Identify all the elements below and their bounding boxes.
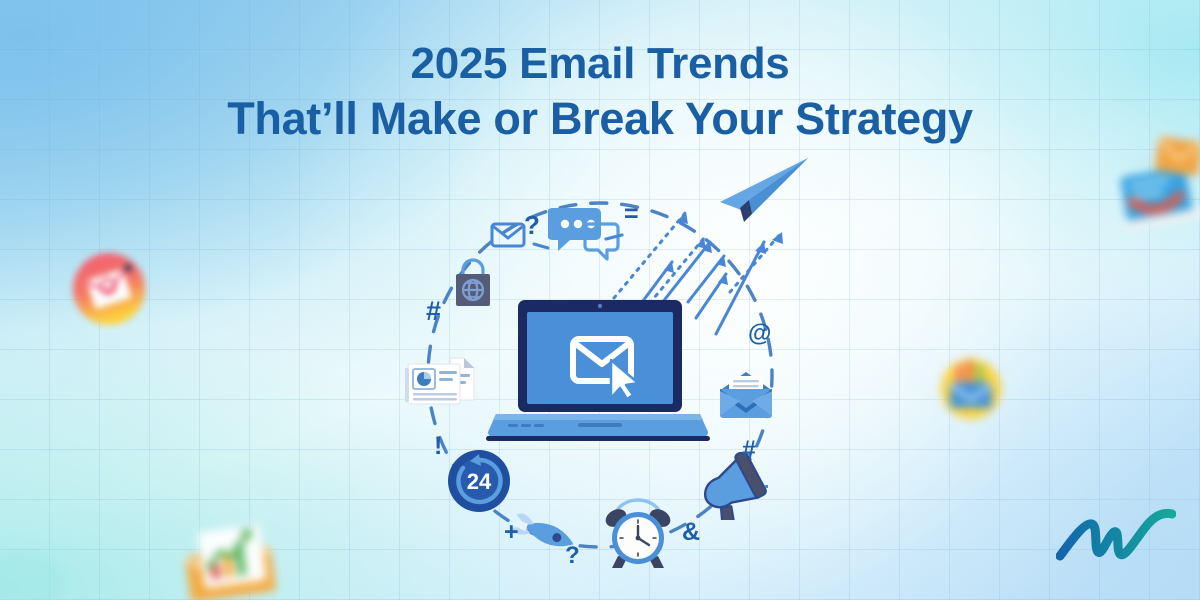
- sticker-blue-inbox-envelope: [1116, 134, 1200, 238]
- dash-accent-icon-2: [532, 240, 552, 252]
- sticker-yellow-newsletter: [934, 352, 1008, 426]
- sticker-pink-envelope: [68, 248, 150, 330]
- plus-symbol: +: [504, 518, 519, 547]
- open-envelope-letter-icon: [718, 370, 774, 420]
- sticker-corner-glow: [0, 540, 80, 600]
- report-document-icon: [404, 356, 482, 412]
- megaphone-icon: [698, 452, 768, 520]
- question-mark-symbol-2: ?: [565, 542, 580, 570]
- shopping-bag-globe-icon: [450, 258, 496, 308]
- dash-accent-icon: [604, 232, 626, 244]
- title-line-2: That’ll Make or Break Your Strategy: [0, 93, 1200, 145]
- sticker-analytics-chart: [176, 520, 294, 600]
- title-line-1: 2025 Email Trends: [0, 38, 1200, 89]
- exclamation-symbol: !: [434, 432, 442, 461]
- page-title: 2025 Email Trends That’ll Make or Break …: [0, 38, 1200, 145]
- laptop-with-email: [486, 298, 710, 444]
- hash-symbol: #: [426, 296, 441, 327]
- hash-symbol-2: #: [742, 436, 756, 465]
- poster-canvas: 2025 Email Trends That’ll Make or Break …: [0, 0, 1200, 600]
- mw-brand-logo[interactable]: [1056, 504, 1176, 574]
- paper-plane-icon: [716, 156, 812, 236]
- question-mark-symbol: ?: [524, 210, 540, 241]
- envelope-outline-icon: [490, 222, 526, 248]
- badge-24-label: 24: [467, 469, 492, 494]
- tilde-symbol: ~: [736, 483, 750, 511]
- ampersand-symbol: &: [682, 518, 700, 547]
- 24-hour-badge: 24: [446, 448, 512, 514]
- at-symbol: @: [748, 320, 771, 348]
- equals-symbol: =: [624, 200, 639, 229]
- alarm-clock-icon: [600, 496, 676, 572]
